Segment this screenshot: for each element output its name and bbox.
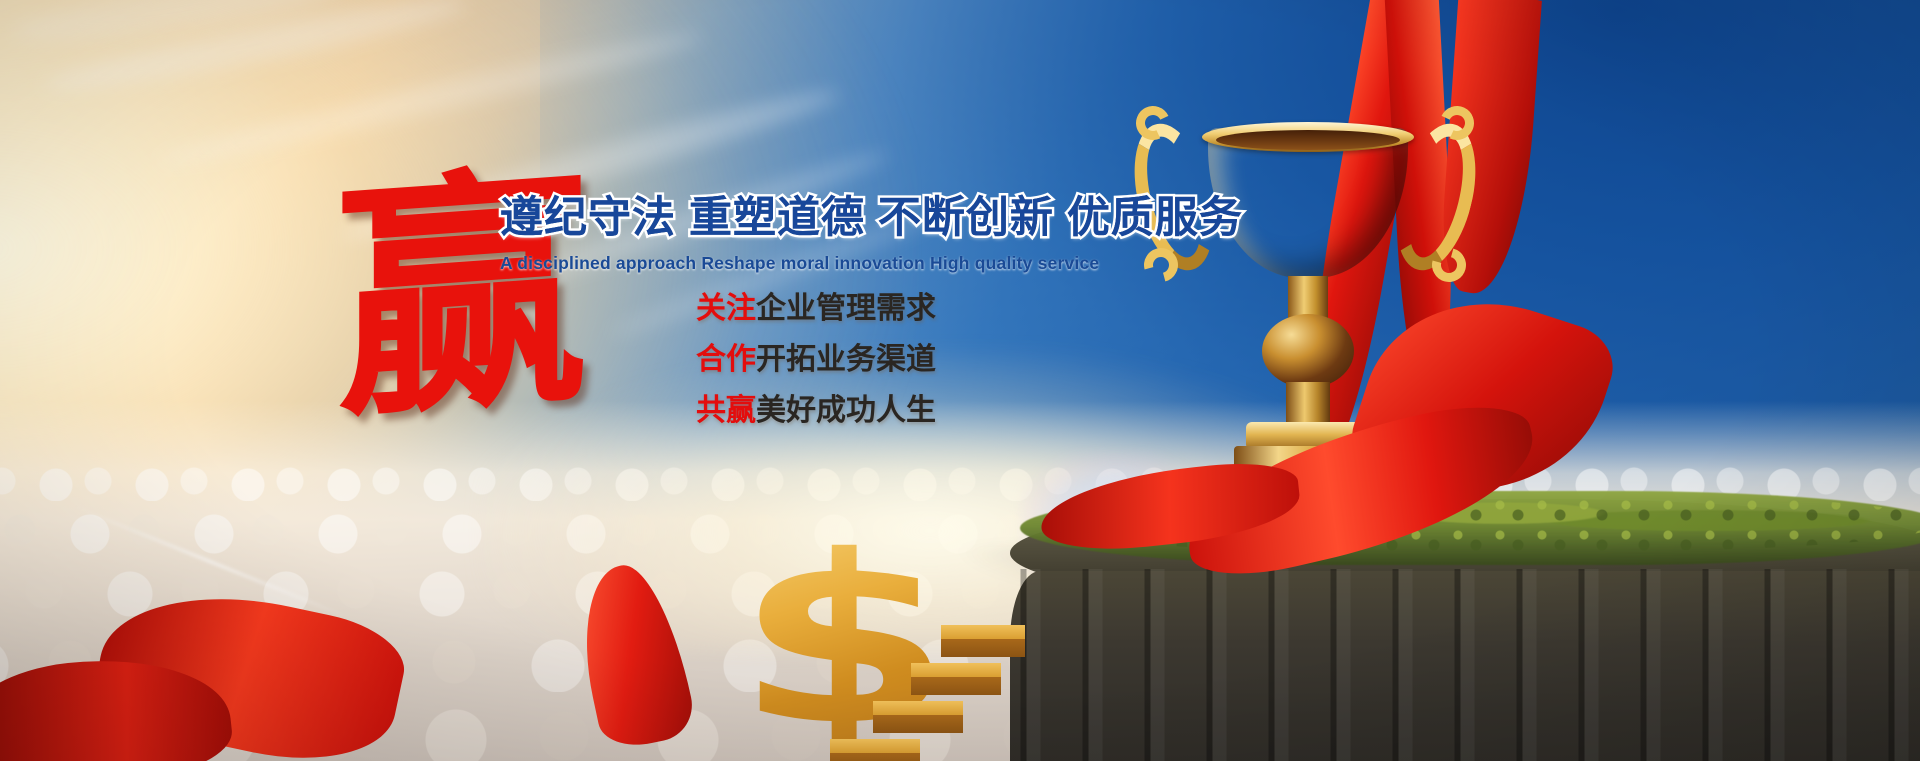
slogan-item: 合作开拓业务渠道 [696,345,1140,375]
page-title: 遵纪守法 重塑道德 不断创新 优质服务 [500,196,1243,241]
banner-text-block: 遵纪守法 重塑道德 不断创新 优质服务 遵纪守法 重塑道德 不断创新 优质服务 … [500,196,1140,447]
slogan-item: 共赢美好成功人生 [696,396,1140,426]
headline-wrapper: 遵纪守法 重塑道德 不断创新 优质服务 遵纪守法 重塑道德 不断创新 优质服务 [500,196,1140,246]
gold-stair-step [830,739,920,755]
slogan-item: 关注企业管理需求 [696,294,1140,324]
gold-stair-step [941,625,1025,641]
trophy-bowl-interior [1216,130,1400,150]
slogan-highlight: 合作 [696,343,756,376]
slogan-rest: 开拓业务渠道 [756,343,936,376]
gold-stair-step [911,663,1001,679]
dollar-sign-stairs: $ [735,521,1065,761]
slogan-highlight: 关注 [696,292,756,325]
gold-stair-step [873,701,963,717]
slogan-highlight: 共赢 [696,394,756,427]
trophy-knob [1262,314,1354,388]
slogan-rest: 美好成功人生 [756,394,936,427]
slogan-rest: 企业管理需求 [756,292,936,325]
cliff-rock-columns [1010,569,1920,761]
trophy-stem-lower [1286,382,1330,426]
slogan-list: 关注企业管理需求 合作开拓业务渠道 共赢美好成功人生 [696,294,1140,426]
subheadline: A disciplined approach Reshape moral inn… [500,253,1140,274]
banner-image: $ 赢 遵纪守法 重塑道德 不断创新 优质服务 遵纪 [0,0,1920,761]
